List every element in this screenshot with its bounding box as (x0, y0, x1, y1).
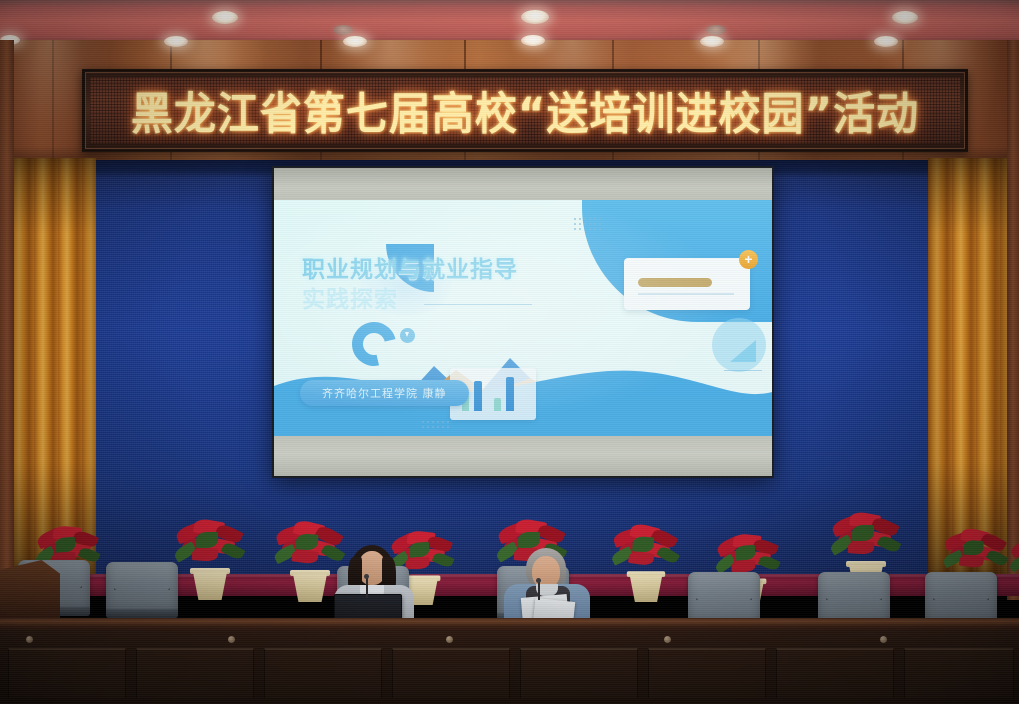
plant-foliage (828, 513, 904, 567)
plant-pot (193, 572, 227, 600)
ceiling-light (706, 25, 726, 35)
plant-leaf (196, 532, 218, 548)
plant-leaf (432, 551, 455, 569)
poinsettia-plant (172, 522, 248, 600)
plant-leaf (986, 548, 1009, 568)
microphone-head (364, 574, 369, 579)
ceiling-light (333, 25, 353, 35)
led-banner-screen: 黑龙江省第七届高校“送培训进校园”活动 (90, 77, 960, 144)
ceiling-light (212, 11, 238, 24)
plant-leaf (852, 525, 874, 541)
chart-bar (494, 398, 501, 411)
microphone-stand (538, 582, 540, 600)
slide-info-card (624, 258, 750, 310)
slide-card-bar (638, 278, 712, 287)
slide-title: 职业规划与就业指导 (302, 250, 518, 284)
plant-leaf (628, 550, 654, 566)
plant-leaf (876, 534, 901, 555)
slide-card-line (638, 293, 734, 295)
plant-leaf (656, 544, 680, 565)
ceiling-light (343, 36, 367, 47)
plant-foliage (172, 520, 248, 574)
side-wall-right (1007, 40, 1019, 600)
plant-foliage (610, 525, 683, 577)
curtain-right (928, 158, 1008, 580)
projection-screen: + (272, 166, 774, 478)
ceiling-light (164, 36, 188, 47)
plus-icon: + (739, 250, 758, 269)
ceiling-light (521, 35, 545, 46)
curtain-left (10, 158, 96, 580)
ceiling-light (892, 11, 918, 24)
banner-title-text: 黑龙江省第七届高校“送培训进校园”活动 (131, 78, 919, 143)
plant-leaf (959, 554, 984, 569)
ceiling-light (700, 36, 724, 47)
chart-bar (506, 377, 514, 411)
side-wall-left (0, 40, 14, 600)
microphone-stand (366, 578, 368, 598)
plant-foliage (1008, 538, 1019, 581)
plant-leaf (731, 560, 755, 572)
presenter-badge: 齐齐哈尔工程学院 康静 (300, 380, 469, 406)
podium (0, 560, 60, 622)
plant-leaf (758, 554, 781, 572)
ceiling-light (521, 10, 549, 24)
dot-grid-decoration (422, 421, 449, 428)
plant-leaf (192, 547, 219, 562)
plant-leaf (220, 541, 245, 562)
plant-pot (630, 575, 663, 602)
conference-hall-photo: 黑龙江省第七届高校“送培训进校园”活动 (0, 0, 1019, 704)
dot-grid-decoration (574, 218, 601, 230)
plant-leaf (848, 540, 875, 555)
screen-surface: + (274, 168, 772, 476)
presentation-slide: + (274, 200, 772, 436)
presidium-table-front (0, 630, 1019, 704)
plant-leaf (518, 532, 540, 548)
led-banner: 黑龙江省第七届高校“送培训进校园”活动 (82, 69, 968, 152)
plant-pot (293, 574, 327, 602)
slide-subtitle: 实践探索 (302, 280, 398, 314)
download-badge-icon (400, 328, 415, 343)
chair (106, 562, 178, 618)
plant-leaf (291, 548, 319, 564)
poinsettia-plant (610, 527, 683, 602)
microphone-head (536, 578, 541, 583)
ceiling-light (874, 36, 898, 47)
poinsettia-plant (1008, 540, 1019, 602)
chart-bar (474, 381, 482, 411)
